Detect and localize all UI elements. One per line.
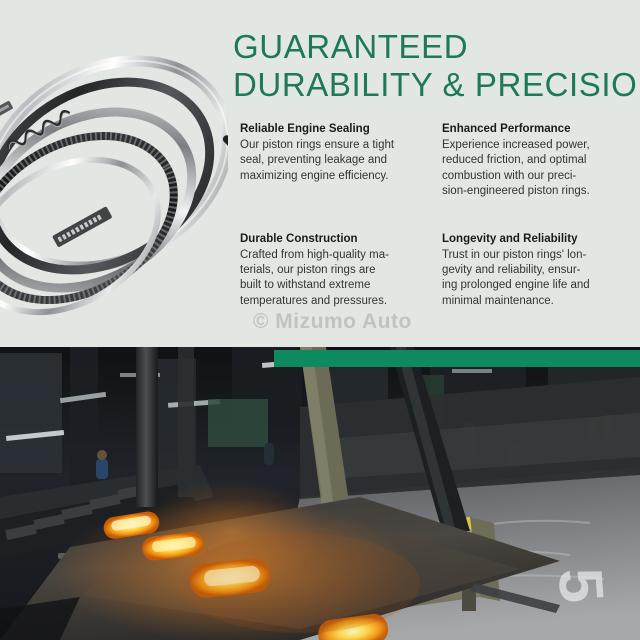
feature-title: Longevity and Reliability — [442, 232, 630, 247]
factory-forge-photo: 5 — [0, 347, 640, 640]
feature-item-longevity-and-reliability: Longevity and Reliability Trust in our p… — [442, 232, 630, 310]
feature-body: Trust in our piston rings' lon- gevity a… — [442, 248, 630, 310]
feature-title: Reliable Engine Sealing — [240, 122, 442, 137]
feature-title: Durable Construction — [240, 232, 442, 247]
watermark: © Mizumo Auto — [253, 310, 412, 334]
feature-item-reliable-engine-sealing: Reliable Engine Sealing Our piston rings… — [240, 122, 442, 200]
promotional-banner: GUARANTEED DURABILITY & PRECISION Reliab… — [0, 0, 640, 640]
feature-body: Experience increased power, reduced fric… — [442, 138, 630, 200]
feature-item-durable-construction: Durable Construction Crafted from high-q… — [240, 232, 442, 310]
svg-text:5: 5 — [545, 566, 616, 605]
feature-body: Crafted from high-quality ma- terials, o… — [240, 248, 442, 310]
feature-title: Enhanced Performance — [442, 122, 630, 137]
headline-line-2: DURABILITY & PRECISION — [233, 66, 633, 104]
floor-chalk-marking: 5 — [545, 566, 616, 605]
green-divider-bar — [274, 350, 640, 367]
page-title: GUARANTEED DURABILITY & PRECISION — [233, 28, 633, 104]
feature-grid: Reliable Engine Sealing Our piston rings… — [240, 122, 630, 309]
feature-body: Our piston rings ensure a tight seal, pr… — [240, 138, 442, 184]
piston-rings-product-image — [0, 4, 228, 334]
top-content-section: GUARANTEED DURABILITY & PRECISION Reliab… — [0, 0, 640, 352]
feature-item-enhanced-performance: Enhanced Performance Experience increase… — [442, 122, 630, 200]
headline-line-1: GUARANTEED — [233, 28, 633, 66]
